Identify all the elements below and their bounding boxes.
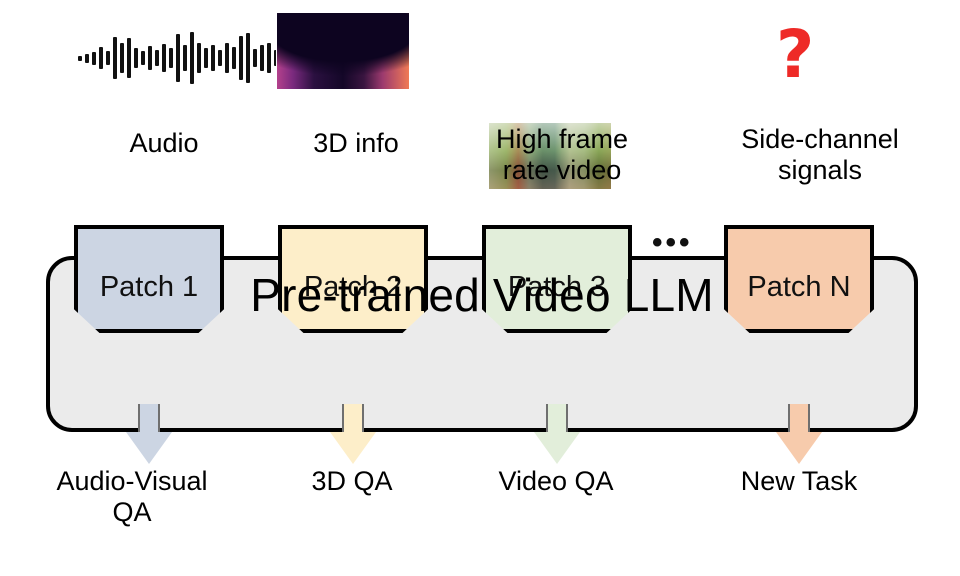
red-question-mark-icon: ? [776, 22, 814, 88]
question-mark-glyph: ? [776, 22, 814, 88]
arrow-shaft-3 [546, 404, 568, 434]
output-label-new-task: New Task [708, 466, 890, 497]
arrow-shaft-2 [342, 404, 364, 434]
output-arrow-1 [126, 404, 172, 464]
depth-frame-front [276, 12, 410, 90]
modality-label-high-frame-rate-video: High frame rate video [462, 124, 662, 186]
output-label-3d-qa: 3D QA [262, 466, 442, 497]
output-label-audio-visual-qa: Audio-Visual QA [22, 466, 242, 528]
modality-label-side-channel-signals: Side-channel signals [712, 124, 928, 186]
figure-canvas: ? Audio 3D info High frame rate video Si… [0, 0, 960, 576]
arrow-head-n [776, 432, 822, 464]
arrow-head-2 [330, 432, 376, 464]
modality-label-audio: Audio [66, 128, 262, 159]
waveform-bars [78, 28, 299, 88]
output-arrow-2 [330, 404, 376, 464]
audio-waveform-icon [78, 28, 299, 88]
arrow-head-3 [534, 432, 580, 464]
modality-label-3d-info: 3D info [258, 128, 454, 159]
arrow-shaft-n [788, 404, 810, 434]
output-label-video-qa: Video QA [466, 466, 646, 497]
model-title: Pre-trained Video LLM [46, 268, 918, 322]
patch-sequence-ellipsis: ••• [652, 228, 693, 258]
output-arrow-3 [534, 404, 580, 464]
output-arrow-n [776, 404, 822, 464]
arrow-shaft-1 [138, 404, 160, 434]
arrow-head-1 [126, 432, 172, 464]
depth-map-stack-icon [276, 12, 432, 112]
